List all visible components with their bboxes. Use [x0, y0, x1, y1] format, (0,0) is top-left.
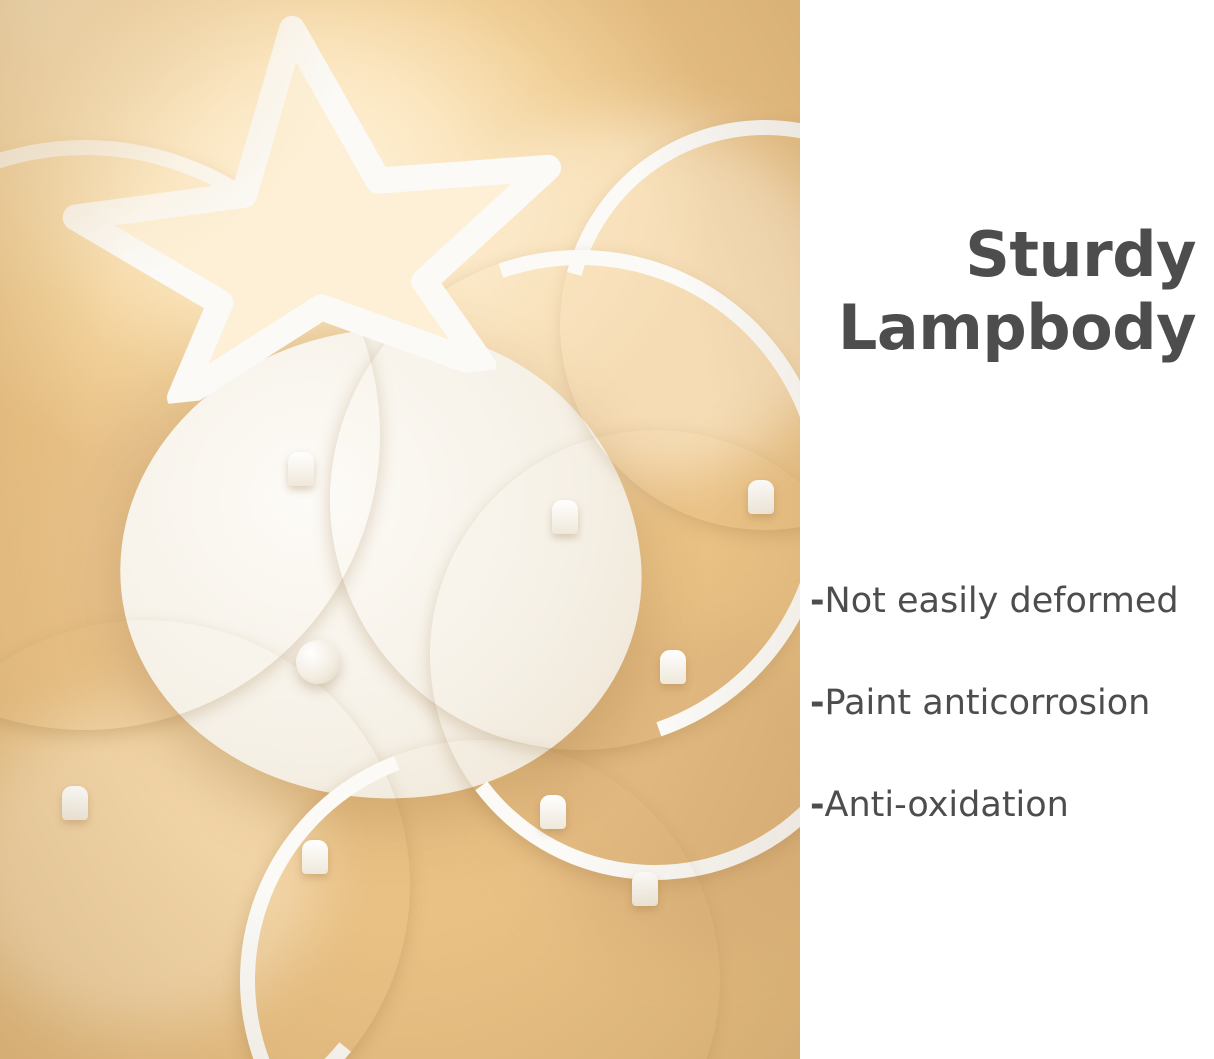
corner-light-wash — [0, 0, 360, 300]
center-knob — [296, 640, 340, 684]
bullet-dash: - — [810, 785, 825, 825]
bullet-text: Anti-oxidation — [825, 785, 1069, 825]
headline: Sturdy Lampbody — [800, 218, 1196, 364]
bullet-text: Paint anticorrosion — [825, 683, 1151, 723]
product-feature-banner: Sturdy Lampbody -Not easily deformed -Pa… — [0, 0, 1214, 1059]
mounting-post — [552, 500, 578, 534]
bullet-dash: - — [810, 581, 825, 621]
mounting-post — [62, 786, 88, 820]
feature-text-panel: Sturdy Lampbody -Not easily deformed -Pa… — [800, 0, 1214, 1059]
mounting-post — [540, 795, 566, 829]
mounting-post — [288, 452, 314, 486]
mounting-post — [660, 650, 686, 684]
mounting-post — [632, 872, 658, 906]
bullet-text: Not easily deformed — [825, 581, 1179, 621]
product-photo — [0, 0, 800, 1059]
headline-line-2: Lampbody — [800, 291, 1196, 364]
headline-line-1: Sturdy — [800, 218, 1196, 291]
feature-bullet-3: -Anti-oxidation — [810, 784, 1214, 826]
bullet-dash: - — [810, 683, 825, 723]
feature-bullet-2: -Paint anticorrosion — [810, 682, 1214, 724]
mounting-post — [302, 840, 328, 874]
feature-bullet-1: -Not easily deformed — [810, 580, 1214, 622]
feature-bullet-list: -Not easily deformed -Paint anticorrosio… — [810, 580, 1214, 886]
mounting-post — [748, 480, 774, 514]
